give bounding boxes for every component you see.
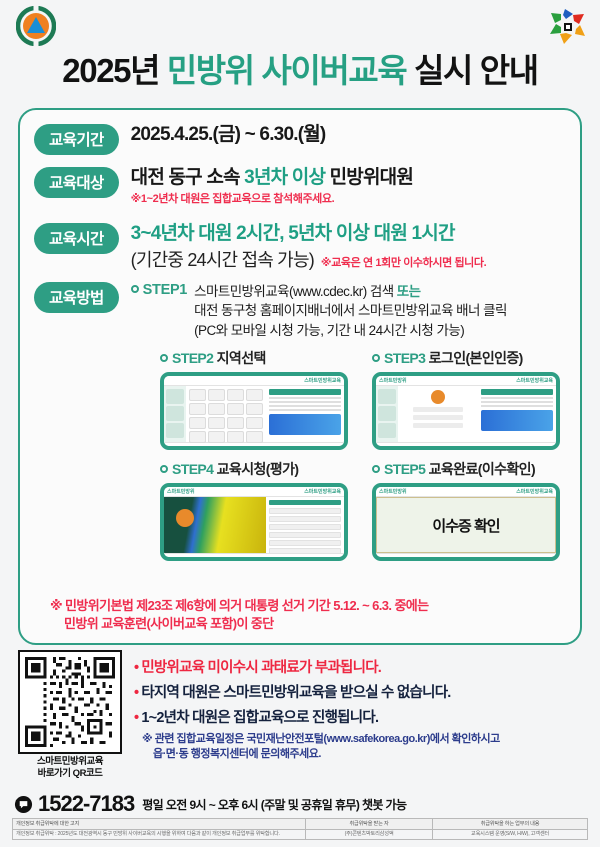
- step1-line1-pre: 스마트민방위교육(www.cdec.kr) 검색: [194, 284, 397, 299]
- step1-label-text: STEP1: [143, 282, 187, 298]
- title-part3: 실시 안내: [406, 52, 537, 89]
- step1-line1-or: 또는: [397, 284, 421, 299]
- privacy-footer: 개인정보 취급위탁에 대한 고지 취급위탁을 받는 자 취급위탁을 하는 업무의…: [12, 818, 588, 840]
- step5-num: STEP5: [384, 461, 425, 477]
- privacy-cell-notice: 개인정보 취급위탁 : 2025년도 대전광역시 동구 민방위 사이버교육의 시…: [13, 829, 306, 840]
- site-brand-label: 스마트민방위교육: [304, 488, 341, 495]
- ring-icon: [160, 354, 168, 362]
- qr-code-image[interactable]: [25, 657, 115, 747]
- duration-value: 3~4년차 대원 2시간, 5년차 이상 대원 1시간: [131, 223, 570, 246]
- table-row: 개인정보 취급위탁 : 2025년도 대전광역시 동구 민방위 사이버교육의 시…: [13, 829, 588, 840]
- civil-defense-emblem-icon: [16, 6, 56, 46]
- logo-row: [0, 0, 600, 50]
- info-row-target: 교육대상 대전 동구 소속 3년차 이상 민방위대원 ※1~2년차 대원은 집합…: [34, 167, 570, 206]
- qr-caption-line2: 바로가기 QR코드: [18, 768, 122, 780]
- step5-label: 교육완료(이수확인): [429, 461, 535, 477]
- step2-label: 지역선택: [217, 350, 266, 366]
- step2-num: STEP2: [172, 350, 213, 366]
- privacy-header-notice: 개인정보 취급위탁에 대한 고지: [13, 819, 306, 830]
- qr-code-box[interactable]: [18, 650, 122, 754]
- bullet-subnote: ※ 관련 집합교육일정은 국민재난안전포털(www.safekorea.go.k…: [142, 732, 589, 763]
- ring-icon: [131, 285, 139, 293]
- step4-title: STEP4 교육시청(평가): [160, 459, 348, 479]
- target-highlight: 3년차 이상: [244, 167, 325, 188]
- step1-line3: (PC와 모바일 시청 가능, 기간 내 24시간 시청 가능): [194, 321, 507, 340]
- bullet-text-2: 타지역 대원은 스마트민방위교육을 받으실 수 없습니다.: [141, 685, 450, 701]
- site-brand-label: 스마트민방위교육: [304, 377, 341, 384]
- duration-paren: (기간중 24시간 접속 가능): [131, 246, 314, 272]
- contact-phone-number[interactable]: 1522-7183: [38, 791, 134, 817]
- step3-num: STEP3: [384, 350, 425, 366]
- period-value: 2025.4.25.(금) ~ 6.30.(월): [131, 124, 570, 146]
- target-value: 대전 동구 소속 3년차 이상 민방위대원: [131, 167, 570, 189]
- badge-target: 교육대상: [34, 167, 119, 198]
- step5-title: STEP5 교육완료(이수확인): [372, 459, 560, 479]
- ring-icon: [160, 465, 168, 473]
- step-cards: STEP2 지역선택 스마트민방위교육 STEP3 로그인(본인인증): [160, 348, 560, 570]
- bullet-subnote-line2: 읍·면·동 행정복지센터에 문의해주세요.: [142, 747, 589, 763]
- chatbot-headset-icon: [14, 795, 33, 814]
- login-screenshot: 스마트민방위스마트민방위교육: [372, 372, 560, 450]
- step3-title: STEP3 로그인(본인인증): [372, 348, 560, 368]
- qr-code-block[interactable]: 스마트민방위교육 바로가기 QR코드: [18, 650, 122, 780]
- ring-icon: [372, 465, 380, 473]
- site-brand-label: 스마트민방위: [379, 377, 407, 384]
- duration-note: ※교육은 연 1회만 이수하시면 됩니다.: [321, 254, 486, 270]
- badge-period: 교육기간: [34, 124, 119, 155]
- step1-body: 스마트민방위교육(www.cdec.kr) 검색 또는 대전 동구청 홈페이지배…: [194, 282, 507, 340]
- step1-label: STEP1: [131, 282, 187, 298]
- bullet-dot-icon: •: [134, 710, 138, 726]
- site-brand-label: 스마트민방위: [167, 488, 195, 495]
- poster-root: 2025년 민방위 사이버교육 실시 안내 교육기간 2025.4.25.(금)…: [0, 0, 600, 847]
- qr-caption: 스마트민방위교육 바로가기 QR코드: [18, 756, 122, 780]
- site-brand-label: 스마트민방위교육: [516, 377, 553, 384]
- step-cards-row-2: STEP4 교육시청(평가) 스마트민방위스마트민방위교육 STEP5 교육완료…: [160, 459, 560, 561]
- site-brand-label: 스마트민방위: [379, 488, 407, 495]
- law-suspension-note: ※ 민방위기본법 제23조 제6항에 의거 대통령 선거 기간 5.12. ~ …: [50, 597, 570, 634]
- video-play-screenshot: 스마트민방위스마트민방위교육: [160, 483, 348, 561]
- certificate-screenshot: 스마트민방위스마트민방위교육 이수증 확인: [372, 483, 560, 561]
- info-row-duration: 교육시간 3~4년차 대원 2시간, 5년차 이상 대원 1시간 (기간중 24…: [34, 223, 570, 272]
- title-part1: 2025년: [62, 52, 167, 89]
- bullet-item-3: •1~2년차 대원은 집합교육으로 진행됩니다.: [134, 706, 589, 731]
- qr-caption-line1: 스마트민방위교육: [18, 756, 122, 768]
- table-header-row: 개인정보 취급위탁에 대한 고지 취급위탁을 받는 자 취급위탁을 하는 업무의…: [13, 819, 588, 830]
- bullet-dot-icon: •: [134, 685, 138, 701]
- step2-title: STEP2 지역선택: [160, 348, 348, 368]
- privacy-header-receiver: 취급위탁을 받는 자: [306, 819, 433, 830]
- contact-row: 1522-7183 평일 오전 9시 ~ 오후 6시 (주말 및 공휴일 휴무)…: [14, 791, 406, 817]
- title-part2: 민방위 사이버교육: [167, 52, 406, 89]
- region-select-screenshot: 스마트민방위교육: [160, 372, 348, 450]
- step-card-3: STEP3 로그인(본인인증) 스마트민방위스마트민방위교육: [372, 348, 560, 450]
- step-card-5: STEP5 교육완료(이수확인) 스마트민방위스마트민방위교육 이수증 확인: [372, 459, 560, 561]
- daejeon-donggu-emblem-icon: [546, 6, 590, 48]
- contact-hours: 평일 오전 9시 ~ 오후 6시 (주말 및 공휴일 휴무) 챗봇 가능: [142, 796, 406, 813]
- law-note-line1: ※ 민방위기본법 제23조 제6항에 의거 대통령 선거 기간 5.12. ~ …: [50, 597, 570, 615]
- site-brand-label: 스마트민방위교육: [516, 488, 553, 495]
- bullet-dot-icon: •: [134, 660, 138, 676]
- info-panel: 교육기간 2025.4.25.(금) ~ 6.30.(월) 교육대상 대전 동구…: [18, 108, 582, 645]
- step-cards-row-1: STEP2 지역선택 스마트민방위교육 STEP3 로그인(본인인증): [160, 348, 560, 450]
- bullet-item-2: •타지역 대원은 스마트민방위교육을 받으실 수 없습니다.: [134, 681, 589, 706]
- bullet-item-1: •민방위교육 미이수시 과태료가 부과됩니다.: [134, 656, 589, 681]
- step4-num: STEP4: [172, 461, 213, 477]
- privacy-cell-scope: 교육시스템 운영(S/W, H/W), 고객센터: [433, 829, 588, 840]
- step-card-2: STEP2 지역선택 스마트민방위교육: [160, 348, 348, 450]
- law-note-line2: 민방위 교육훈련(사이버교육 포함)이 중단: [50, 615, 570, 633]
- page-title: 2025년 민방위 사이버교육 실시 안내: [0, 54, 600, 89]
- step1-line2: 대전 동구청 홈페이지배너에서 스마트민방위교육 배너 클릭: [194, 301, 507, 320]
- target-pre: 대전 동구 소속: [131, 167, 245, 188]
- privacy-header-scope: 취급위탁을 하는 업무의 내용: [433, 819, 588, 830]
- badge-duration: 교육시간: [34, 223, 119, 254]
- info-row-method: 교육방법 STEP1 스마트민방위교육(www.cdec.kr) 검색 또는 대…: [34, 282, 570, 340]
- certificate-text: 이수증 확인: [432, 515, 499, 536]
- target-note: ※1~2년차 대원은 집합교육으로 참석해주세요.: [131, 190, 570, 206]
- privacy-cell-receiver: (주)콘텐츠박토리삼성액: [306, 829, 433, 840]
- bullet-text-1: 민방위교육 미이수시 과태료가 부과됩니다.: [141, 660, 381, 676]
- notice-bullets: •민방위교육 미이수시 과태료가 부과됩니다. •타지역 대원은 스마트민방위교…: [134, 656, 589, 763]
- bullet-text-3: 1~2년차 대원은 집합교육으로 진행됩니다.: [141, 710, 378, 726]
- privacy-table: 개인정보 취급위탁에 대한 고지 취급위탁을 받는 자 취급위탁을 하는 업무의…: [12, 818, 588, 840]
- step3-label: 로그인(본인인증): [429, 350, 523, 366]
- step-card-4: STEP4 교육시청(평가) 스마트민방위스마트민방위교육: [160, 459, 348, 561]
- badge-method: 교육방법: [34, 282, 119, 313]
- target-post: 민방위대원: [325, 167, 413, 188]
- ring-icon: [372, 354, 380, 362]
- step1-line1: 스마트민방위교육(www.cdec.kr) 검색 또는: [194, 282, 507, 301]
- info-row-period: 교육기간 2025.4.25.(금) ~ 6.30.(월): [34, 124, 570, 155]
- step4-label: 교육시청(평가): [217, 461, 299, 477]
- bullet-subnote-line1: ※ 관련 집합교육일정은 국민재난안전포털(www.safekorea.go.k…: [142, 732, 589, 748]
